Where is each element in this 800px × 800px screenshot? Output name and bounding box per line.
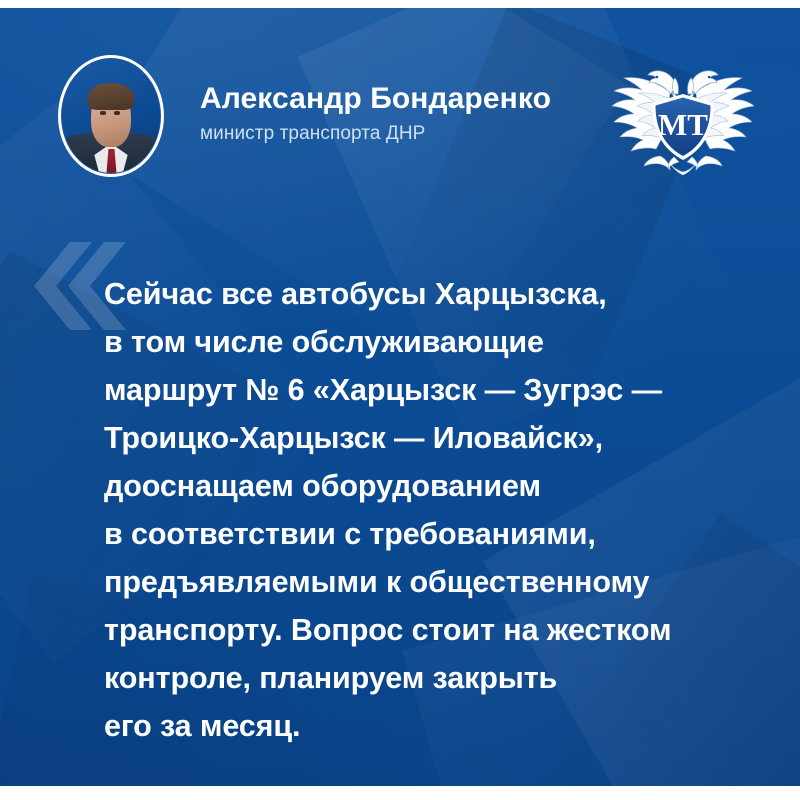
bottom-margin-band xyxy=(0,786,800,800)
quote-line: его за месяц. xyxy=(104,702,800,750)
emblem-shield-text: МТ xyxy=(658,107,708,142)
quote-line: Троицко-Харцызск — Иловайск», xyxy=(104,414,800,462)
speaker-block: Александр Бондаренко министр транспорта … xyxy=(200,82,620,145)
quote-line: маршрут № 6 «Харцызск — Зугрэс — xyxy=(104,366,800,414)
quote-line: дооснащаем оборудованием xyxy=(104,462,800,510)
quote-card: Александр Бондаренко министр транспорта … xyxy=(0,0,800,800)
quote-line: транспорту. Вопрос стоит на жестком xyxy=(104,606,800,654)
card-canvas: Александр Бондаренко министр транспорта … xyxy=(0,8,800,786)
card-header: Александр Бондаренко министр транспорта … xyxy=(0,8,800,204)
quote-line: предъявляемыми к общественному xyxy=(104,558,800,606)
avatar-ring xyxy=(58,55,164,177)
top-margin-band xyxy=(0,0,800,8)
avatar xyxy=(58,55,164,177)
quote-line: Сейчас все автобусы Харцызска, xyxy=(104,270,800,318)
ministry-emblem-icon: МТ xyxy=(608,56,758,178)
quote-line: в соответствии с требованиями, xyxy=(104,510,800,558)
quote-text: Сейчас все автобусы Харцызска, в том чис… xyxy=(104,270,800,750)
quote-line: в том числе обслуживающие xyxy=(104,318,800,366)
speaker-name: Александр Бондаренко xyxy=(200,82,620,115)
quote-line: контроле, планируем закрыть xyxy=(104,654,800,702)
speaker-role: министр транспорта ДНР xyxy=(200,123,620,145)
